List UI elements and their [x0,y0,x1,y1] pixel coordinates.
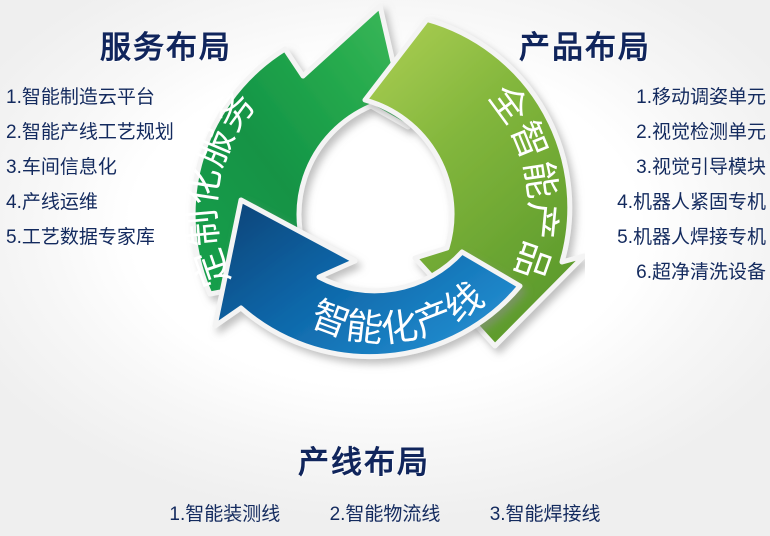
list-item: 1.智能装测线 [169,499,280,526]
list-item: 2.视觉检测单元 [617,115,766,150]
list-item: 1.智能制造云平台 [6,80,174,115]
product-item-list: 1.移动调姿单元 2.视觉检测单元 3.视觉引导模块 4.机器人紧固专机 5.机… [617,80,766,290]
diagram-canvas: 定制化服务 全智能产品 智能化产线 服务布局 1.智能制造云平台 2.智能产线工… [0,0,770,536]
list-item: 5.机器人焊接专机 [617,220,766,255]
list-item: 2.智能物流线 [330,499,441,526]
list-item: 4.产线运维 [6,185,174,220]
list-item: 4.机器人紧固专机 [617,185,766,220]
list-item: 6.超净清洗设备 [617,255,766,290]
list-item: 1.移动调姿单元 [617,80,766,115]
list-item: 5.工艺数据专家库 [6,220,174,255]
service-item-list: 1.智能制造云平台 2.智能产线工艺规划 3.车间信息化 4.产线运维 5.工艺… [6,80,174,255]
production-line-item-list: 1.智能装测线 2.智能物流线 3.智能焊接线 [0,499,770,526]
list-item: 3.智能焊接线 [490,499,601,526]
section-title-service: 服务布局 [100,22,232,67]
section-title-production-line: 产线布局 [298,437,430,482]
list-item: 3.视觉引导模块 [617,150,766,185]
list-item: 3.车间信息化 [6,150,174,185]
list-item: 2.智能产线工艺规划 [6,115,174,150]
section-title-product: 产品布局 [519,22,651,67]
